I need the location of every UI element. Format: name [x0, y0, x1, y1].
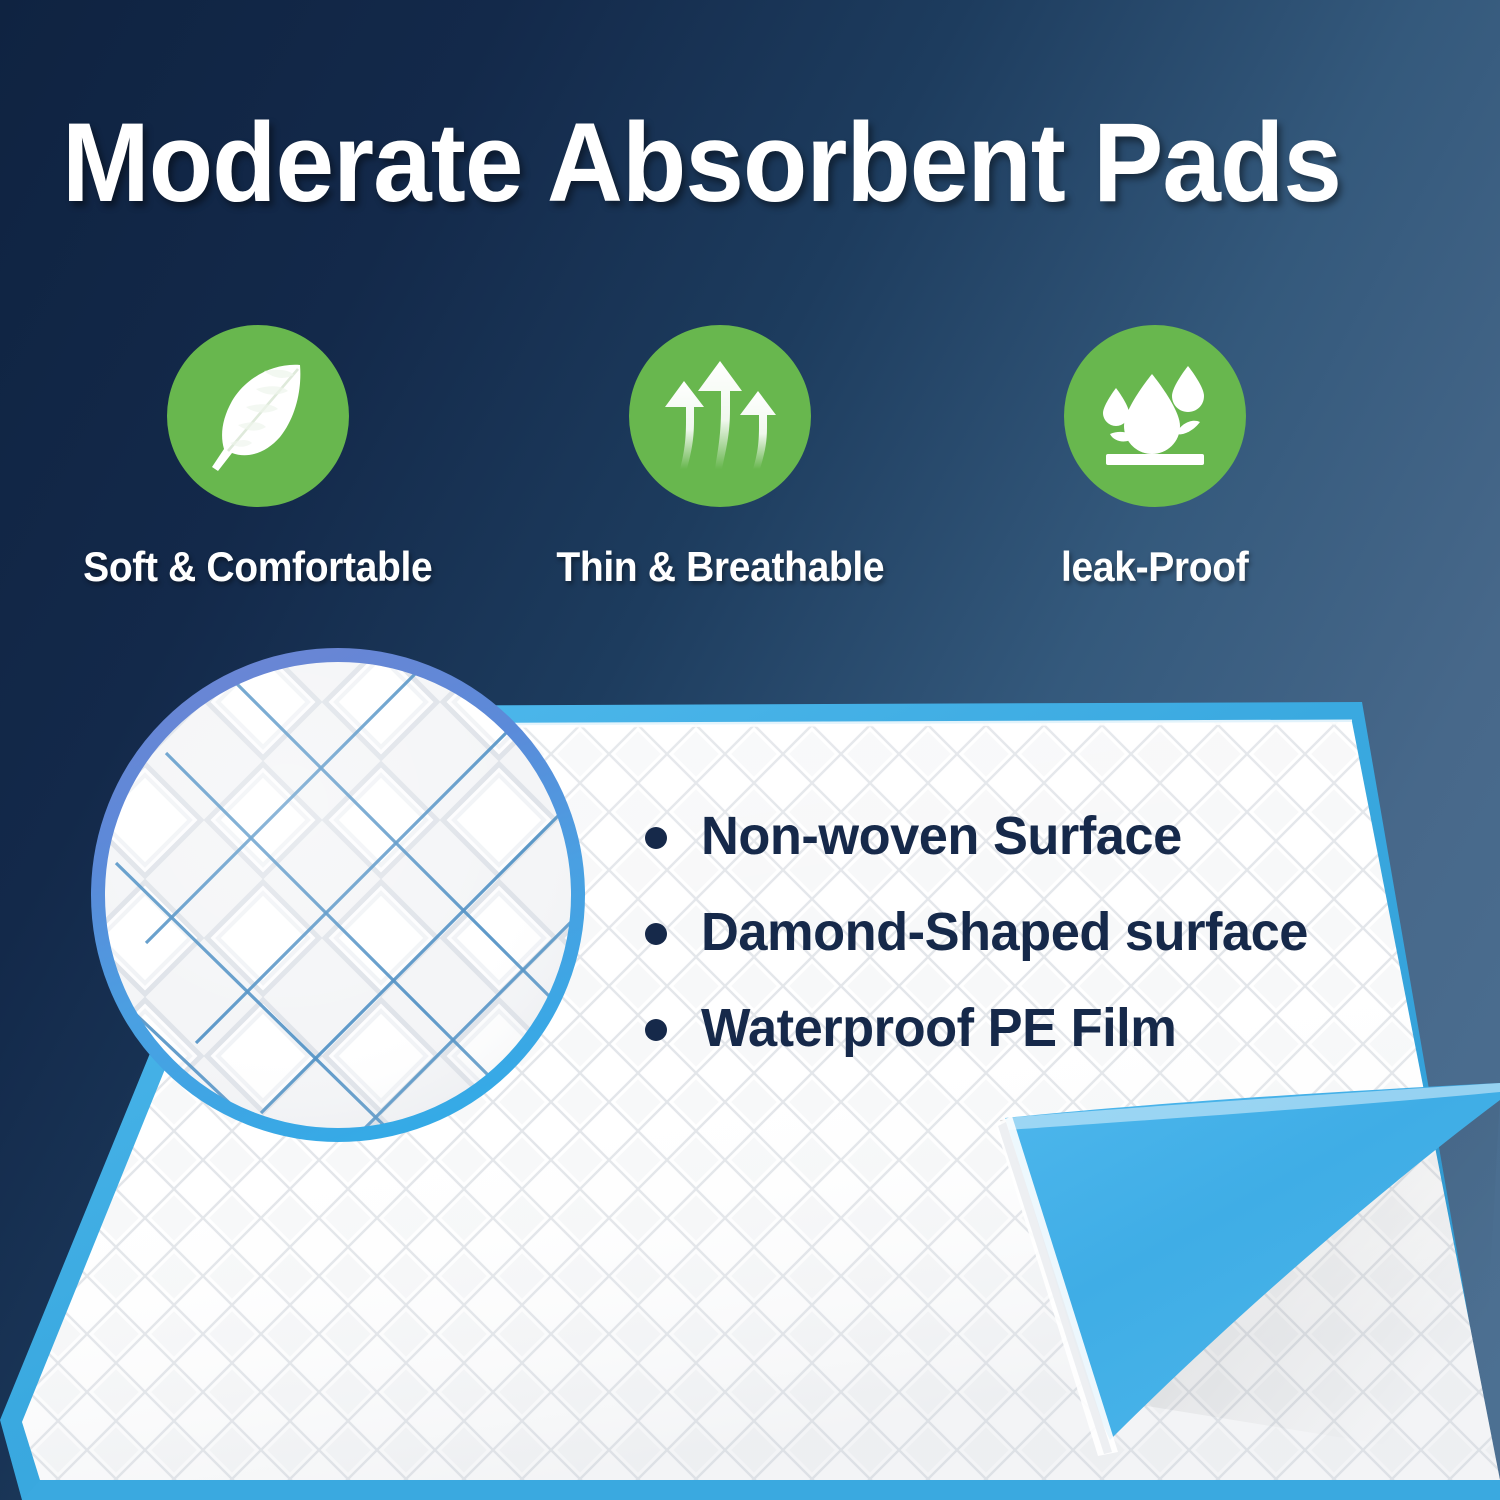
pad-bottom-film-band: [22, 1480, 1500, 1500]
list-item: Non-woven Surface: [645, 788, 1445, 884]
list-item: Waterproof PE Film: [645, 980, 1445, 1076]
list-item: Damond-Shaped surface: [645, 884, 1445, 980]
product-infographic-poster: Moderate Absorbent Pads Soft & Comfortab…: [0, 0, 1500, 1500]
surface-detail-magnifier: [86, 643, 590, 1147]
feature-thin-breathable: Thin & Breathable: [515, 325, 925, 591]
bullet-dot-icon: [645, 923, 667, 945]
feature-label: leak-Proof: [1061, 543, 1248, 591]
pad-corner-fold: [995, 1083, 1500, 1500]
magnified-surface: [86, 643, 590, 1147]
feature-soft-comfortable: Soft & Comfortable: [0, 325, 515, 591]
up-arrows-airflow-icon: [629, 325, 811, 507]
feature-label: Thin & Breathable: [556, 543, 884, 591]
feature-leak-proof: leak-Proof: [925, 325, 1385, 591]
bullet-label: Waterproof PE Film: [701, 997, 1176, 1059]
bullet-label: Damond-Shaped surface: [701, 901, 1308, 963]
feature-row: Soft & Comfortable: [0, 325, 1500, 591]
feather-icon: [167, 325, 349, 507]
feature-label: Soft & Comfortable: [83, 543, 432, 591]
water-droplets-repel-icon: [1064, 325, 1246, 507]
bullet-dot-icon: [645, 827, 667, 849]
bullet-label: Non-woven Surface: [701, 805, 1182, 867]
feature-bullet-list: Non-woven Surface Damond-Shaped surface …: [645, 788, 1445, 1076]
bullet-dot-icon: [645, 1019, 667, 1041]
poster-title: Moderate Absorbent Pads: [62, 104, 1359, 222]
